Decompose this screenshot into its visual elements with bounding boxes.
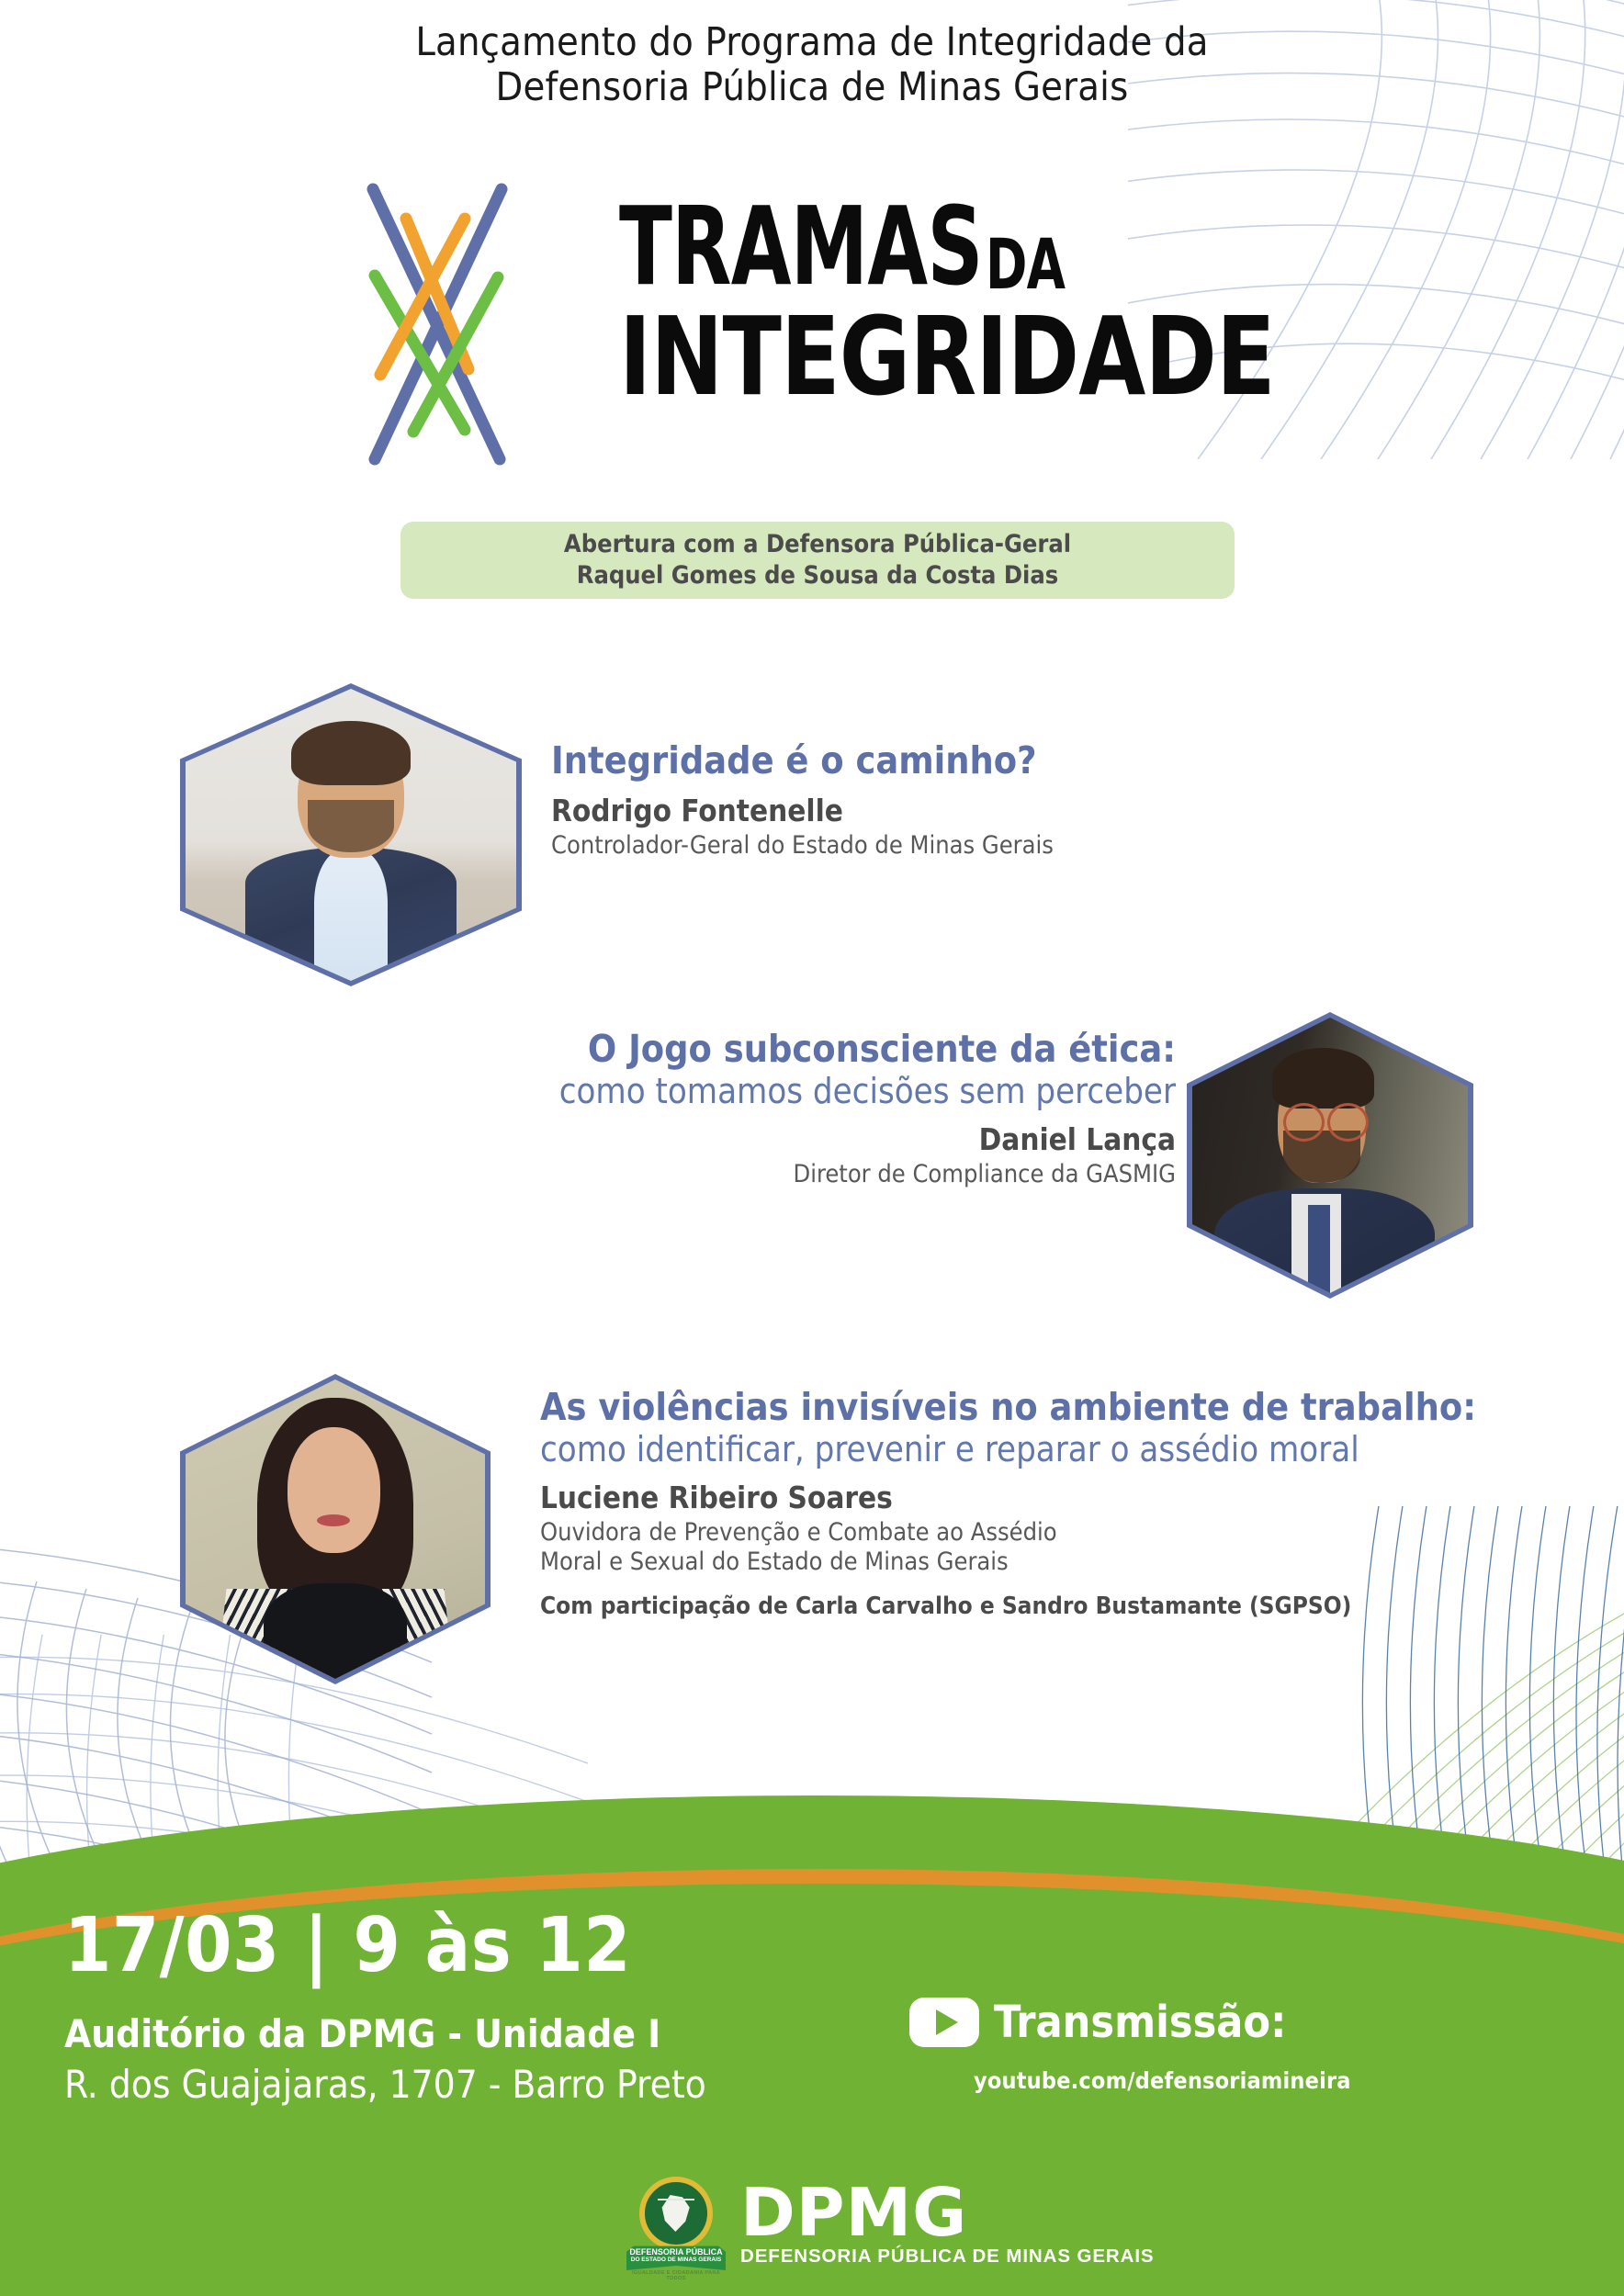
dpmg-acronym: DPMG <box>740 2185 1155 2240</box>
event-venue: Auditório da DPMG - Unidade I <box>64 2011 660 2057</box>
stream-row: Transmissão: <box>909 1998 1424 2047</box>
seal-motto: IGUALDADE E CIDADANIA PARA TODOS <box>626 2270 726 2281</box>
dpmg-footer-logo: DEFENSORIA PÚBLICA DO ESTADO DE MINAS GE… <box>625 2175 1155 2278</box>
stream-url[interactable]: youtube.com/defensoriamineira <box>974 2067 1424 2094</box>
dpmg-full-name: DEFENSORIA PÚBLICA DE MINAS GERAIS <box>740 2245 1155 2268</box>
event-poster: Lançamento do Programa de Integridade da… <box>0 0 1624 2296</box>
event-address: R. dos Guajajaras, 1707 - Barro Preto <box>64 2062 706 2108</box>
stream-label: Transmissão: <box>994 2000 1286 2044</box>
dpmg-seal-icon: DEFENSORIA PÚBLICA DO ESTADO DE MINAS GE… <box>625 2175 727 2278</box>
seal-ribbon-line-2: DO ESTADO DE MINAS GERAIS <box>626 2257 726 2264</box>
stream-block: Transmissão: youtube.com/defensoriaminei… <box>909 1998 1424 2094</box>
youtube-play-icon[interactable] <box>909 1998 979 2047</box>
seal-scales-icon <box>658 2199 694 2200</box>
dpmg-wordmark: DPMG DEFENSORIA PÚBLICA DE MINAS GERAIS <box>740 2185 1155 2268</box>
event-details: 17/03 | 9 às 12 Auditório da DPMG - Unid… <box>0 0 1624 2296</box>
event-date-time: 17/03 | 9 às 12 <box>64 1908 631 1984</box>
play-triangle-icon <box>936 2009 958 2035</box>
